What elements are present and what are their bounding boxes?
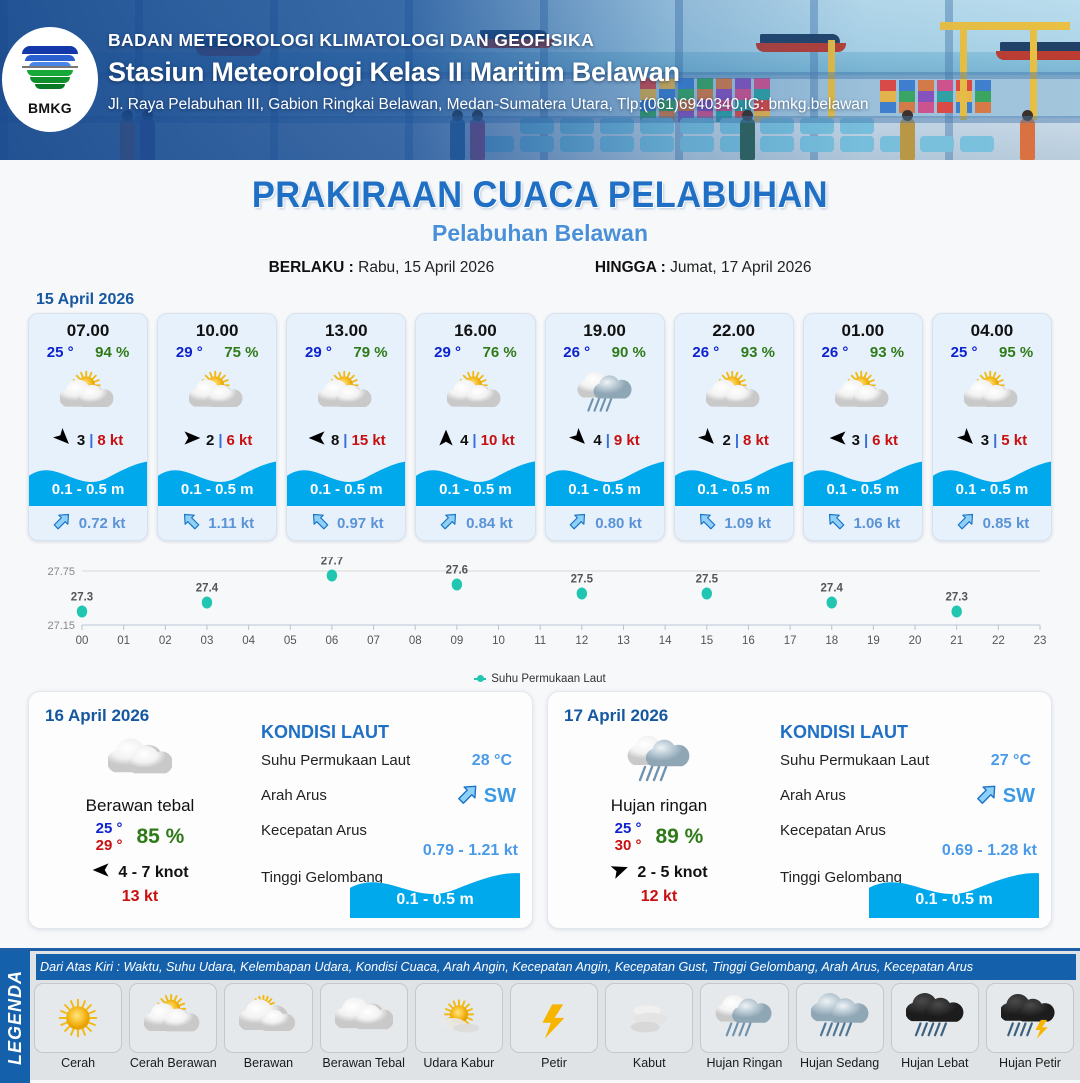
legend-item-label: Cerah xyxy=(34,1056,122,1070)
card-time: 10.00 xyxy=(158,321,276,341)
validity-row: BERLAKU : Rabu, 15 April 2026 HINGGA : J… xyxy=(0,259,1080,277)
wind-direction-arrow-icon xyxy=(569,428,589,453)
hingga-value: Jumat, 17 April 2026 xyxy=(670,259,811,276)
svg-text:27.6: 27.6 xyxy=(446,565,468,577)
card-temperature: 25 ° xyxy=(47,344,74,361)
legend-icon-hujan-lebat xyxy=(891,983,979,1053)
wind-speed-value: 6 kt xyxy=(227,432,253,449)
wave-height-band: 0.1 - 0.5 m xyxy=(546,454,664,506)
card-humidity: 94 % xyxy=(95,344,129,361)
chart-legend: Suhu Permukaan Laut xyxy=(0,673,1080,685)
wind-direction-value: 3 xyxy=(981,432,989,449)
svg-text:13: 13 xyxy=(617,635,630,647)
legend-icon-cerah xyxy=(34,983,122,1053)
card-time: 19.00 xyxy=(546,321,664,341)
card-temperature: 26 ° xyxy=(822,344,849,361)
svg-text:15: 15 xyxy=(700,635,713,647)
svg-text:27.5: 27.5 xyxy=(696,574,719,586)
wind-direction-value: 2 xyxy=(206,432,214,449)
svg-text:16: 16 xyxy=(742,635,755,647)
legend-icon-kabut xyxy=(605,983,693,1053)
wave-height-value: 0.1 - 0.5 m xyxy=(933,481,1051,498)
legend-item-label: Berawan Tebal xyxy=(320,1056,408,1070)
current-speed-value: 1.09 kt xyxy=(724,515,771,532)
card-time: 01.00 xyxy=(804,321,922,341)
forecast-card[interactable]: 22.00 26 ° 93 % 2 | 8 kt 0.1 - 0.5 m 1.0… xyxy=(674,313,794,541)
day-gust-value: 12 kt xyxy=(564,888,754,906)
day-condition: Berawan tebal xyxy=(45,796,235,816)
station-name: Stasiun Meteorologi Kelas II Maritim Bel… xyxy=(108,57,869,88)
legend-item-label: Hujan Petir xyxy=(986,1056,1074,1070)
bmkg-logo-mark xyxy=(22,44,78,98)
sea-condition-title: KONDISI LAUT xyxy=(780,722,1037,743)
card-humidity: 79 % xyxy=(353,344,387,361)
wave-height-value: 0.1 - 0.5 m xyxy=(158,481,276,498)
wind-direction-arrow-icon xyxy=(957,428,977,453)
wind-direction-arrow-icon xyxy=(828,428,848,453)
current-speed-value: 0.84 kt xyxy=(466,515,513,532)
daily-forecast-panels: 16 April 2026 Berawan tebal 25 ° 29 ° 85… xyxy=(0,685,1080,929)
legend-icon-hujan-petir xyxy=(986,983,1074,1053)
wave-height-band: 0.1 - 0.5 m xyxy=(933,454,1051,506)
sea-condition-title: KONDISI LAUT xyxy=(261,722,518,743)
wind-speed-value: 6 kt xyxy=(872,432,898,449)
day-humidity: 85 % xyxy=(136,825,184,849)
hourly-forecast-cards: 07.00 25 ° 94 % 3 | 8 kt 0.1 - 0.5 m 0.7… xyxy=(0,313,1080,541)
legend-item: Hujan Sedang xyxy=(796,983,884,1070)
wave-height-band: 0.1 - 0.5 m xyxy=(675,454,793,506)
wind-direction-value: 8 xyxy=(331,432,339,449)
card-temperature: 29 ° xyxy=(434,344,461,361)
sst-chart: 27.1527.75000102030405060708091011121314… xyxy=(0,551,1080,671)
card-temperature: 26 ° xyxy=(563,344,590,361)
legend-icon-hujan-sedang xyxy=(796,983,884,1053)
separator: | xyxy=(89,432,93,449)
daily-forecast-panel[interactable]: 17 April 2026 Hujan ringan 25 ° 30 ° 89 … xyxy=(547,691,1052,929)
separator: | xyxy=(343,432,347,449)
svg-text:27.7: 27.7 xyxy=(321,557,343,568)
current-direction-label: Arah Arus xyxy=(780,787,846,804)
weather-icon-cerah-berawan xyxy=(287,363,405,425)
daily-forecast-panel[interactable]: 16 April 2026 Berawan tebal 25 ° 29 ° 85… xyxy=(28,691,533,929)
weather-icon-cerah-berawan xyxy=(933,363,1051,425)
legend-item-label: Udara Kabur xyxy=(415,1056,503,1070)
svg-text:08: 08 xyxy=(409,635,422,647)
legend-sidebar: LEGENDA xyxy=(0,951,30,1083)
day-humidity: 89 % xyxy=(655,825,703,849)
svg-text:05: 05 xyxy=(284,635,297,647)
current-direction-arrow-icon xyxy=(180,510,202,537)
current-speed-value: 0.72 kt xyxy=(79,515,126,532)
separator: | xyxy=(218,432,222,449)
wind-direction-arrow-icon xyxy=(698,428,718,453)
card-temperature: 26 ° xyxy=(692,344,719,361)
weather-icon-berawan-tebal xyxy=(45,730,235,792)
current-speed-label: Kecepatan Arus xyxy=(780,822,886,839)
legend-item: Berawan Tebal xyxy=(320,983,408,1070)
separator: | xyxy=(993,432,997,449)
legend-item: Cerah xyxy=(34,983,122,1070)
legend-item: Udara Kabur xyxy=(415,983,503,1070)
weather-icon-cerah-berawan xyxy=(416,363,534,425)
wind-direction-arrow-icon xyxy=(53,428,73,453)
wind-speed-value: 15 kt xyxy=(351,432,385,449)
legend-icon-udara-kabur xyxy=(415,983,503,1053)
weather-icon-cerah-berawan xyxy=(158,363,276,425)
current-direction-value: SW xyxy=(484,785,516,808)
svg-text:14: 14 xyxy=(659,635,672,647)
current-direction-arrow-icon xyxy=(955,510,977,537)
chart-legend-label: Suhu Permukaan Laut xyxy=(491,673,605,685)
weather-icon-hujan-ringan xyxy=(546,363,664,425)
wind-speed-value: 5 kt xyxy=(1001,432,1027,449)
wave-height-value: 0.1 - 0.5 m xyxy=(804,481,922,498)
legend-item-label: Berawan xyxy=(224,1056,312,1070)
day-wind-range: 2 - 5 knot xyxy=(637,864,707,882)
day-temp-max: 30 ° xyxy=(615,837,642,854)
legend-items: Cerah Cerah Berawan Berawan xyxy=(34,983,1074,1070)
current-speed-value: 0.79 - 1.21 kt xyxy=(261,842,518,860)
legend-item: Hujan Ringan xyxy=(700,983,788,1070)
card-humidity: 90 % xyxy=(612,344,646,361)
separator: | xyxy=(735,432,739,449)
svg-text:10: 10 xyxy=(492,635,505,647)
card-time: 07.00 xyxy=(29,321,147,341)
forecast-card[interactable]: 07.00 25 ° 94 % 3 | 8 kt 0.1 - 0.5 m 0.7… xyxy=(28,313,148,541)
legend-item: Hujan Lebat xyxy=(891,983,979,1070)
legend-note: Dari Atas Kiri : Waktu, Suhu Udara, Kele… xyxy=(36,954,1076,980)
hingga-label: HINGGA : xyxy=(595,259,666,276)
wave-height-band: 0.1 - 0.5 m xyxy=(804,454,922,506)
legend-item: Hujan Petir xyxy=(986,983,1074,1070)
separator: | xyxy=(864,432,868,449)
wave-height-value: 0.1 - 0.5 m xyxy=(416,481,534,498)
svg-text:01: 01 xyxy=(117,635,130,647)
day-wind-direction-arrow-icon xyxy=(610,860,630,885)
page-title: PRAKIRAAN CUACA PELABUHAN xyxy=(38,174,1042,216)
current-speed-value: 0.85 kt xyxy=(983,515,1030,532)
svg-text:27.4: 27.4 xyxy=(196,583,219,595)
forecast-card[interactable]: 01.00 26 ° 93 % 3 | 6 kt 0.1 - 0.5 m 1.0… xyxy=(803,313,923,541)
svg-text:27.75: 27.75 xyxy=(47,566,75,578)
svg-text:07: 07 xyxy=(367,635,380,647)
card-temperature: 29 ° xyxy=(305,344,332,361)
card-time: 04.00 xyxy=(933,321,1051,341)
wind-speed-value: 10 kt xyxy=(481,432,515,449)
card-humidity: 93 % xyxy=(870,344,904,361)
current-speed-value: 0.69 - 1.28 kt xyxy=(780,842,1037,860)
svg-text:27.4: 27.4 xyxy=(821,583,844,595)
card-humidity: 95 % xyxy=(999,344,1033,361)
forecast-card[interactable]: 10.00 29 ° 75 % 2 | 6 kt 0.1 - 0.5 m 1.1… xyxy=(157,313,277,541)
legend-item: Kabut xyxy=(605,983,693,1070)
page-header: BMKG BADAN METEOROLOGI KLIMATOLOGI DAN G… xyxy=(0,0,1080,160)
title-section: PRAKIRAAN CUACA PELABUHAN Pelabuhan Bela… xyxy=(0,160,1080,277)
legend-icon-berawan xyxy=(224,983,312,1053)
sst-label: Suhu Permukaan Laut xyxy=(780,752,929,769)
sst-label: Suhu Permukaan Laut xyxy=(261,752,410,769)
legend-icon-petir xyxy=(510,983,598,1053)
current-direction-arrow-icon xyxy=(567,510,589,537)
legend-item: Cerah Berawan xyxy=(129,983,217,1070)
day-temp-min: 25 ° xyxy=(96,820,123,837)
svg-text:02: 02 xyxy=(159,635,172,647)
wind-speed-value: 9 kt xyxy=(614,432,640,449)
current-direction-arrow-icon xyxy=(51,510,73,537)
legend-section: LEGENDA Dari Atas Kiri : Waktu, Suhu Uda… xyxy=(0,948,1080,1080)
day-gust-value: 13 kt xyxy=(45,888,235,906)
current-direction-arrow-icon xyxy=(974,781,1000,812)
day-temp-max: 29 ° xyxy=(96,837,123,854)
current-direction-arrow-icon xyxy=(825,510,847,537)
current-speed-value: 0.80 kt xyxy=(595,515,642,532)
card-temperature: 25 ° xyxy=(951,344,978,361)
weather-icon-cerah-berawan xyxy=(804,363,922,425)
forecast-card[interactable]: 13.00 29 ° 79 % 8 | 15 kt 0.1 - 0.5 m 0.… xyxy=(286,313,406,541)
current-direction-arrow-icon xyxy=(438,510,460,537)
svg-text:11: 11 xyxy=(534,635,546,647)
legend-item-label: Hujan Lebat xyxy=(891,1056,979,1070)
sst-value: 27 °C xyxy=(991,752,1031,770)
svg-text:27.3: 27.3 xyxy=(946,592,968,604)
legend-item-label: Hujan Ringan xyxy=(700,1056,788,1070)
wind-direction-value: 4 xyxy=(460,432,468,449)
wave-height-band: 0.1 - 0.5 m xyxy=(416,454,534,506)
svg-text:27.5: 27.5 xyxy=(571,574,594,586)
svg-text:23: 23 xyxy=(1034,635,1047,647)
agency-name: BADAN METEOROLOGI KLIMATOLOGI DAN GEOFIS… xyxy=(108,30,869,51)
legend-marker-icon xyxy=(474,678,486,680)
legend-item-label: Kabut xyxy=(605,1056,693,1070)
card-humidity: 75 % xyxy=(224,344,258,361)
svg-text:12: 12 xyxy=(575,635,588,647)
svg-text:20: 20 xyxy=(909,635,922,647)
wind-speed-value: 8 kt xyxy=(97,432,123,449)
forecast-date-label: 15 April 2026 xyxy=(36,291,1080,309)
wave-height-value: 0.1 - 0.5 m xyxy=(546,481,664,498)
bmkg-logo: BMKG xyxy=(2,27,98,132)
svg-text:17: 17 xyxy=(784,635,797,647)
legend-item: Petir xyxy=(510,983,598,1070)
day-wave-band: 0.1 - 0.5 m xyxy=(350,866,520,918)
card-humidity: 76 % xyxy=(483,344,517,361)
svg-text:21: 21 xyxy=(950,635,963,647)
separator: | xyxy=(472,432,476,449)
berlaku-label: BERLAKU : xyxy=(269,259,354,276)
day-condition: Hujan ringan xyxy=(564,796,754,816)
wave-height-band: 0.1 - 0.5 m xyxy=(29,454,147,506)
wind-direction-arrow-icon xyxy=(436,428,456,453)
page-subtitle: Pelabuhan Belawan xyxy=(0,220,1080,247)
separator: | xyxy=(606,432,610,449)
current-speed-value: 1.06 kt xyxy=(853,515,900,532)
svg-text:09: 09 xyxy=(450,635,463,647)
wave-height-band: 0.1 - 0.5 m xyxy=(158,454,276,506)
legend-icon-cerah-berawan xyxy=(129,983,217,1053)
forecast-card[interactable]: 04.00 25 ° 95 % 3 | 5 kt 0.1 - 0.5 m 0.8… xyxy=(932,313,1052,541)
current-direction-arrow-icon xyxy=(309,510,331,537)
svg-text:00: 00 xyxy=(76,635,89,647)
legend-item-label: Petir xyxy=(510,1056,598,1070)
svg-text:22: 22 xyxy=(992,635,1005,647)
day-wind-range: 4 - 7 knot xyxy=(118,864,188,882)
legend-sidebar-label: LEGENDA xyxy=(5,969,26,1064)
day-wave-band: 0.1 - 0.5 m xyxy=(869,866,1039,918)
svg-text:19: 19 xyxy=(867,635,880,647)
sst-value: 28 °C xyxy=(472,752,512,770)
card-time: 22.00 xyxy=(675,321,793,341)
current-direction-value: SW xyxy=(1003,785,1035,808)
card-humidity: 93 % xyxy=(741,344,775,361)
wave-height-value: 0.1 - 0.5 m xyxy=(675,481,793,498)
current-direction-label: Arah Arus xyxy=(261,787,327,804)
wind-direction-value: 2 xyxy=(722,432,730,449)
day-wave-value: 0.1 - 0.5 m xyxy=(350,891,520,909)
wave-height-band: 0.1 - 0.5 m xyxy=(287,454,405,506)
current-direction-arrow-icon xyxy=(696,510,718,537)
legend-item: Berawan xyxy=(224,983,312,1070)
legend-icon-hujan-ringan xyxy=(700,983,788,1053)
legend-item-label: Hujan Sedang xyxy=(796,1056,884,1070)
day-wave-value: 0.1 - 0.5 m xyxy=(869,891,1039,909)
svg-text:03: 03 xyxy=(201,635,214,647)
day-temp-min: 25 ° xyxy=(615,820,642,837)
current-speed-label: Kecepatan Arus xyxy=(261,822,367,839)
svg-text:27.3: 27.3 xyxy=(71,592,93,604)
wind-direction-value: 3 xyxy=(77,432,85,449)
wind-speed-value: 8 kt xyxy=(743,432,769,449)
bmkg-logo-text: BMKG xyxy=(28,100,72,116)
berlaku-value: Rabu, 15 April 2026 xyxy=(358,259,494,276)
wind-direction-value: 4 xyxy=(593,432,601,449)
svg-text:04: 04 xyxy=(242,635,255,647)
wind-direction-arrow-icon xyxy=(307,428,327,453)
current-direction-arrow-icon xyxy=(455,781,481,812)
weather-icon-hujan-ringan xyxy=(564,730,754,792)
svg-text:27.15: 27.15 xyxy=(47,620,75,632)
legend-icon-berawan-tebal xyxy=(320,983,408,1053)
station-address: Jl. Raya Pelabuhan III, Gabion Ringkai B… xyxy=(108,96,869,114)
wave-height-value: 0.1 - 0.5 m xyxy=(29,481,147,498)
current-speed-value: 1.11 kt xyxy=(208,515,254,532)
sst-chart-canvas: 27.1527.75000102030405060708091011121314… xyxy=(30,557,1050,657)
svg-text:06: 06 xyxy=(326,635,339,647)
card-time: 13.00 xyxy=(287,321,405,341)
wave-height-value: 0.1 - 0.5 m xyxy=(287,481,405,498)
day-wind-direction-arrow-icon xyxy=(91,860,111,885)
forecast-card[interactable]: 19.00 26 ° 90 % 4 | 9 kt 0.1 - 0.5 m 0.8… xyxy=(545,313,665,541)
card-time: 16.00 xyxy=(416,321,534,341)
legend-item-label: Cerah Berawan xyxy=(129,1056,217,1070)
forecast-card[interactable]: 16.00 29 ° 76 % 4 | 10 kt 0.1 - 0.5 m 0.… xyxy=(415,313,535,541)
svg-text:18: 18 xyxy=(825,635,838,647)
wind-direction-arrow-icon xyxy=(182,428,202,453)
weather-icon-cerah-berawan xyxy=(675,363,793,425)
weather-icon-cerah-berawan xyxy=(29,363,147,425)
current-speed-value: 0.97 kt xyxy=(337,515,384,532)
wind-direction-value: 3 xyxy=(852,432,860,449)
card-temperature: 29 ° xyxy=(176,344,203,361)
